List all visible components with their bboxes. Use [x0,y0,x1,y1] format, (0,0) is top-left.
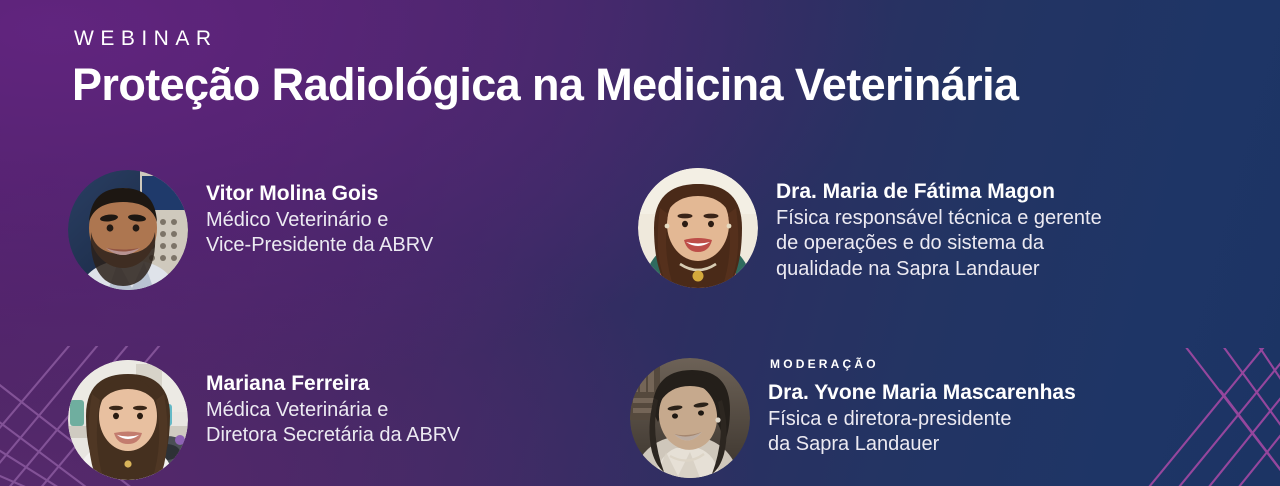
avatar-maria-de-fatima-magon [638,168,758,288]
speaker-info: MODERAÇÃO Dra. Yvone Maria Mascarenhas F… [768,358,1076,458]
speaker-info: Mariana Ferreira Médica Veterinária e Di… [206,360,460,449]
speaker-card: Mariana Ferreira Médica Veterinária e Di… [68,360,460,480]
avatar-vitor-molina-gois [68,170,188,290]
webinar-banner: WEBINAR Proteção Radiológica na Medicina… [0,0,1280,486]
speaker-info: Vitor Molina Gois Médico Veterinário e V… [206,170,433,259]
speaker-name: Mariana Ferreira [206,372,460,397]
speaker-name: Dra. Yvone Maria Mascarenhas [768,381,1076,406]
speaker-card: MODERAÇÃO Dra. Yvone Maria Mascarenhas F… [630,358,1076,478]
speaker-role: Médico Veterinário e Vice-Presidente da … [206,208,433,259]
page-title: Proteção Radiológica na Medicina Veterin… [72,61,1232,110]
speaker-role: Médica Veterinária e Diretora Secretária… [206,398,460,449]
speaker-info: Dra. Maria de Fátima Magon Física respon… [776,168,1102,283]
speaker-role: Física e diretora-presidente da Sapra La… [768,407,1076,458]
eyebrow-label: WEBINAR [74,28,1232,49]
speaker-name: Dra. Maria de Fátima Magon [776,180,1102,205]
avatar-yvone-maria-mascarenhas [630,358,750,478]
avatar-mariana-ferreira [68,360,188,480]
speaker-role: Física responsável técnica e gerente de … [776,206,1102,283]
banner-header: WEBINAR Proteção Radiológica na Medicina… [72,28,1232,110]
moderator-kicker: MODERAÇÃO [770,358,1076,370]
speaker-card: Dra. Maria de Fátima Magon Física respon… [638,168,1102,288]
speaker-card: Vitor Molina Gois Médico Veterinário e V… [68,170,433,290]
speaker-name: Vitor Molina Gois [206,182,433,207]
speaker-grid: Vitor Molina Gois Médico Veterinário e V… [0,160,1280,486]
